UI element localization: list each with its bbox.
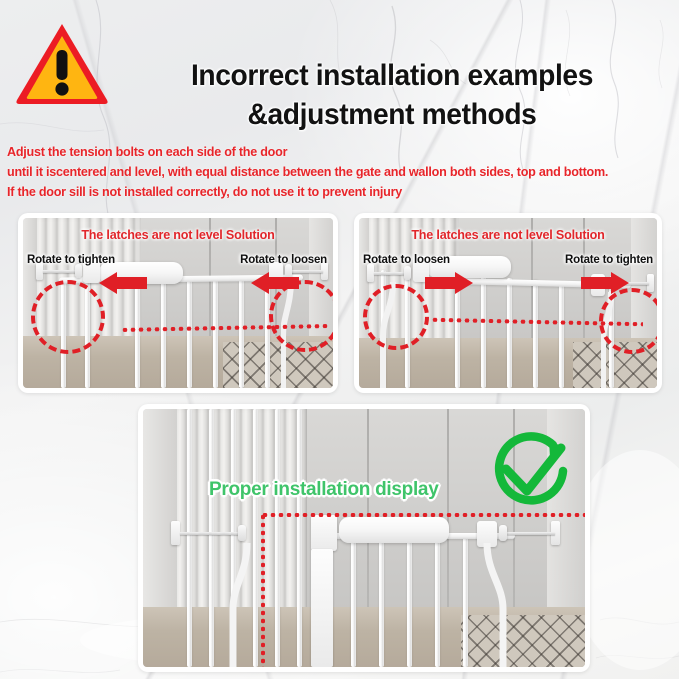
- horizontal-level-dotted-line: [261, 513, 585, 517]
- title-line-2: &adjustment methods: [129, 95, 655, 134]
- highlight-circle-left-bolt: [31, 280, 105, 354]
- panel-latches-not-level-left: The latches are not level Solution Rotat…: [18, 213, 338, 393]
- panel-proper-installation: Proper installation display: [138, 404, 590, 672]
- warning-triangle-icon: [14, 20, 110, 106]
- proper-installation-caption: Proper installation display: [209, 479, 438, 501]
- panel-left-label-right: Rotate to loosen: [240, 254, 327, 266]
- instruction-note-3: If the door sill is not installed correc…: [7, 185, 679, 199]
- panel-right-title: The latches are not level Solution: [359, 228, 657, 242]
- highlight-circle-left-bolt: [363, 284, 429, 350]
- panel-left-label-left: Rotate to tighten: [27, 254, 115, 266]
- instruction-note-1: Adjust the tension bolts on each side of…: [7, 145, 679, 159]
- highlight-circle-right-bolt: [269, 280, 333, 352]
- panel-right-label-right: Rotate to tighten: [565, 254, 653, 266]
- title-line-1: Incorrect installation examples: [129, 56, 655, 95]
- panel-right-label-left: Rotate to loosen: [363, 254, 450, 266]
- panel-latches-not-level-right: The latches are not level Solution Rotat…: [354, 213, 662, 393]
- page-title: Incorrect installation examples &adjustm…: [112, 56, 672, 134]
- vertical-alignment-dotted-line: [261, 513, 265, 667]
- arrow-left-tighten-icon: [99, 272, 147, 294]
- arrow-left-loosen-icon: [425, 272, 473, 294]
- green-check-circle-arrow-icon: [489, 431, 575, 517]
- panel-left-title: The latches are not level Solution: [23, 228, 333, 242]
- instruction-note-2: until it iscentered and level, with equa…: [7, 165, 679, 179]
